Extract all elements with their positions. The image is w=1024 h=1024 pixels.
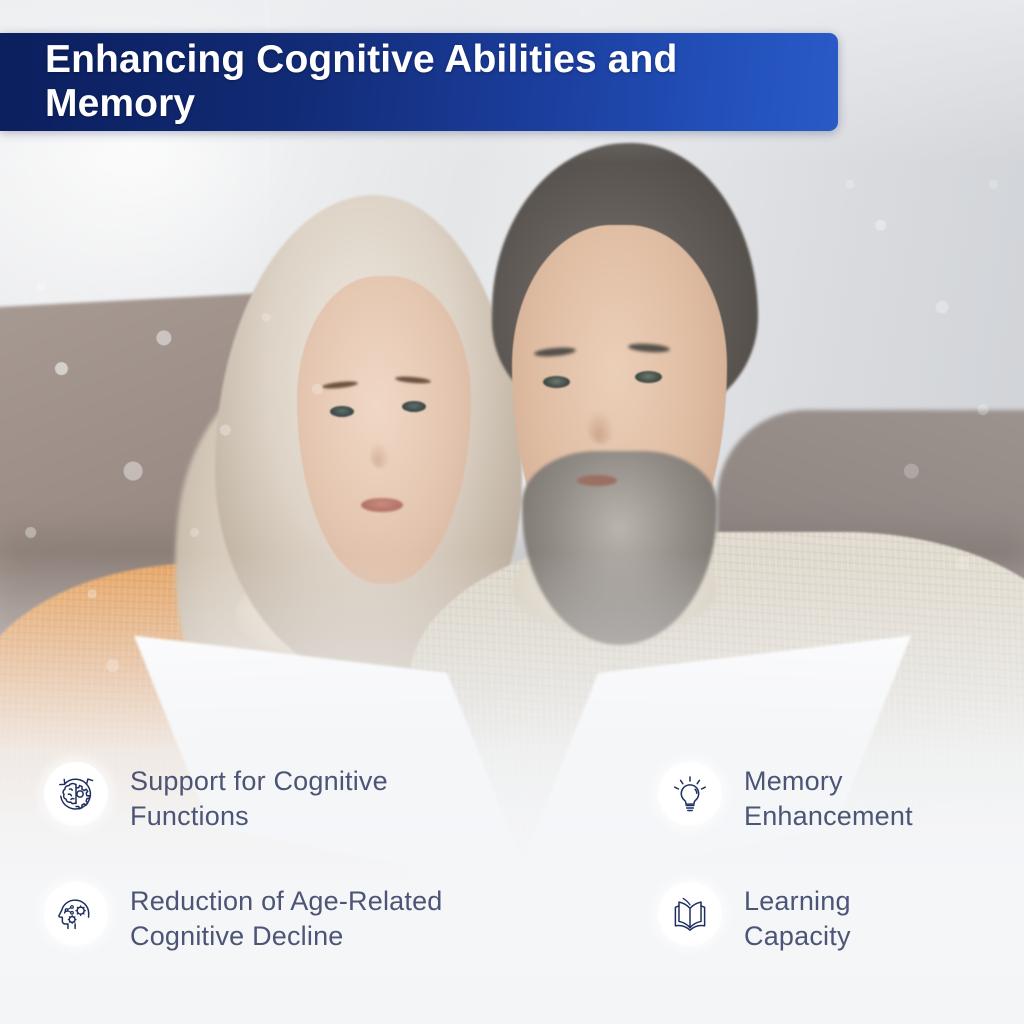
feature-item-support-cognitive-functions[interactable]: Support for Cognitive Functions [44, 758, 654, 878]
lightbulb-icon [658, 762, 722, 826]
brain-gear-refresh-icon [44, 762, 108, 826]
title-banner: Enhancing Cognitive Abilities and Memory [0, 33, 838, 131]
woman-eye-left [330, 406, 354, 417]
feature-label: Reduction of Age-Related Cognitive Decli… [130, 878, 443, 954]
head-gears-icon [44, 882, 108, 946]
man-mouth [577, 475, 617, 486]
woman-mouth [361, 498, 403, 512]
feature-item-reduction-age-related-decline[interactable]: Reduction of Age-Related Cognitive Decli… [44, 878, 654, 998]
page-title: Enhancing Cognitive Abilities and Memory [45, 38, 677, 126]
open-book-icon [658, 882, 722, 946]
feature-label: Support for Cognitive Functions [130, 758, 388, 834]
man-nose [588, 410, 614, 444]
feature-grid: Support for Cognitive Functions Memo [0, 758, 1024, 998]
feature-label: Memory Enhancement [744, 758, 913, 834]
feature-item-learning-capacity[interactable]: Learning Capacity [654, 878, 1024, 998]
man-eye-right [635, 371, 662, 383]
feature-item-memory-enhancement[interactable]: Memory Enhancement [654, 758, 1024, 878]
man-eye-left [543, 376, 570, 388]
feature-label: Learning Capacity [744, 878, 851, 954]
poster-canvas: Enhancing Cognitive Abilities and Memory [0, 0, 1024, 1024]
woman-nose [370, 442, 390, 468]
